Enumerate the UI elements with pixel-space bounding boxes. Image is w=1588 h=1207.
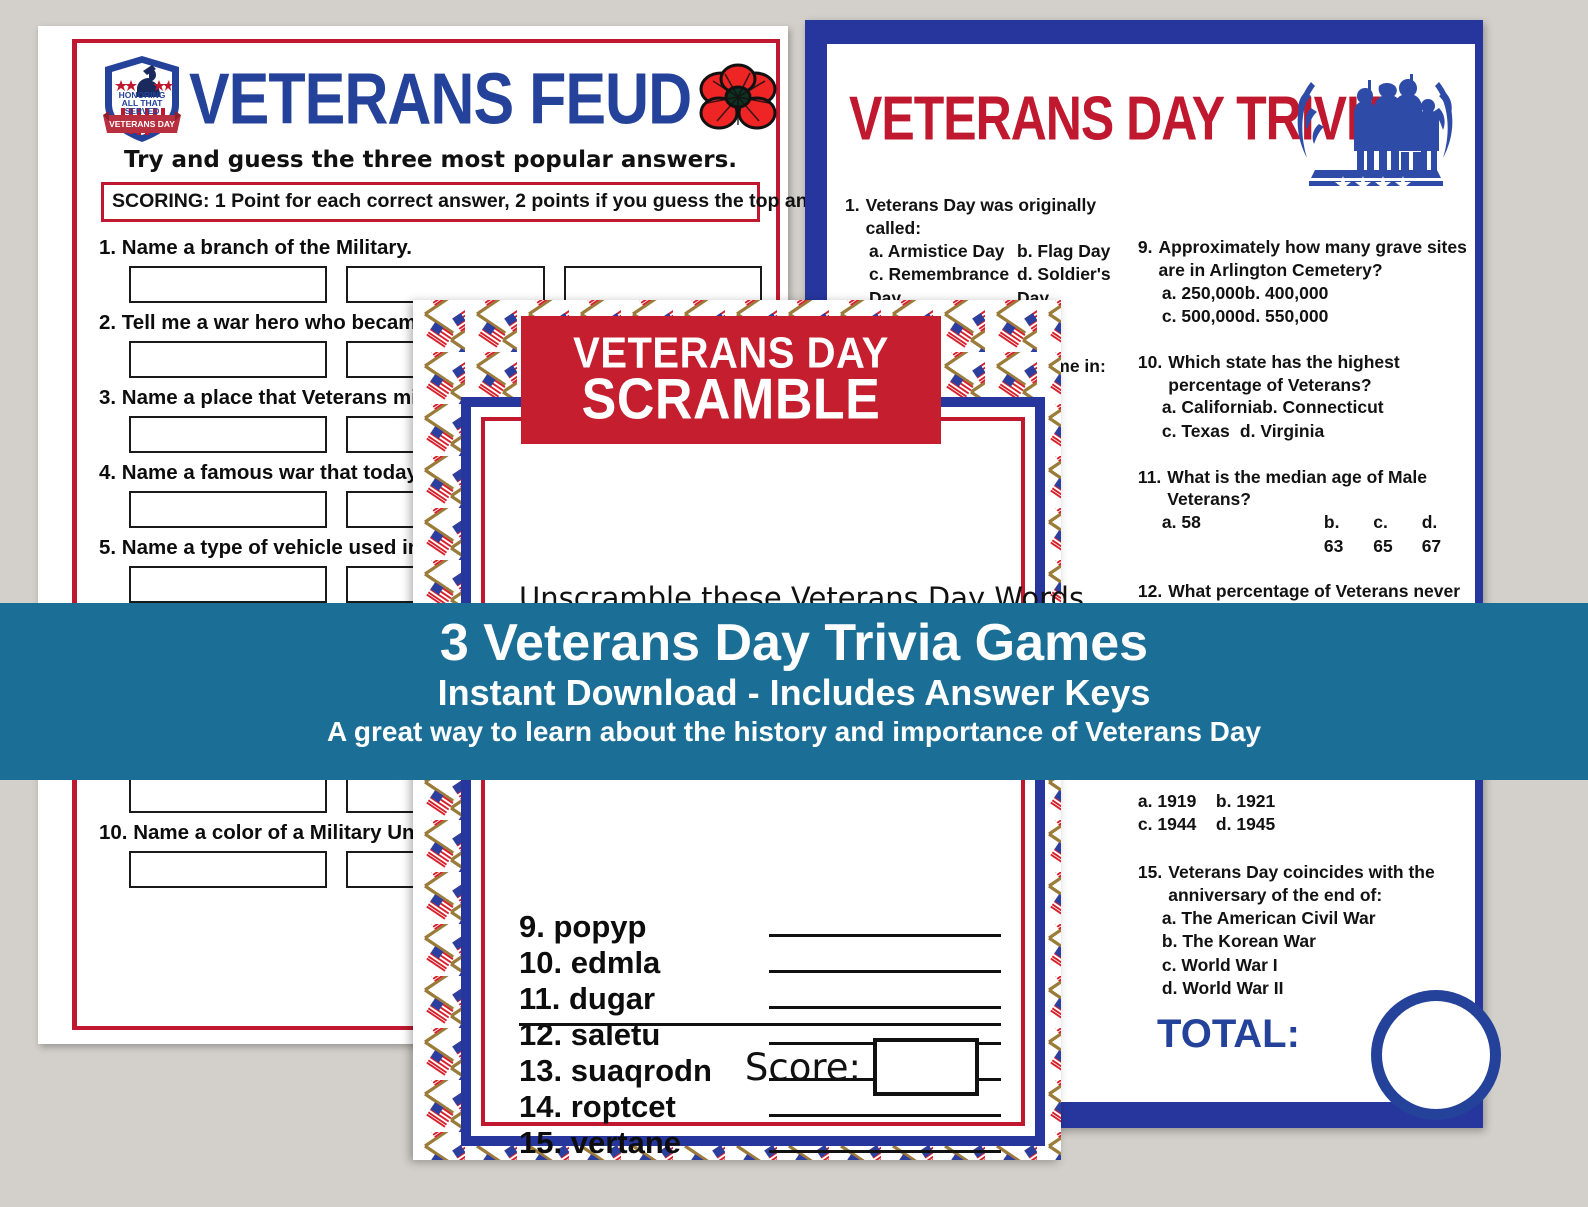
trivia-option[interactable]: b. Flag Day xyxy=(1017,240,1110,264)
scramble-answer-line[interactable] xyxy=(769,970,1001,973)
trivia-question-text: Approximately how many grave sites are i… xyxy=(1159,236,1471,282)
trivia-option[interactable]: a. 1919 xyxy=(1138,790,1216,814)
trivia-option[interactable]: a. Armistice Day xyxy=(869,240,1017,264)
trivia-question-number: 11. xyxy=(1138,466,1161,512)
scramble-item: 10. edmla xyxy=(519,945,1001,981)
trivia-question-text: What is the median age of Male Veterans? xyxy=(1167,466,1471,512)
feud-subtitle: Try and guess the three most popular ans… xyxy=(99,147,762,173)
scramble-word: 11. dugar xyxy=(519,981,769,1017)
trivia-option[interactable]: a. 250,000 xyxy=(1162,282,1245,306)
scramble-word: 9. popyp xyxy=(519,909,769,945)
trivia-option[interactable]: c. World War I xyxy=(1162,954,1471,978)
trivia-option[interactable]: c. Texas xyxy=(1162,420,1240,444)
product-mockup-canvas: HONORING ALL THAT SERVED VETERANS DAY VE… xyxy=(0,0,1588,1207)
trivia-question: 10. Which state has the highest percenta… xyxy=(1138,351,1471,444)
honoring-all-that-served-badge-icon: HONORING ALL THAT SERVED VETERANS DAY xyxy=(99,53,185,145)
score-label: Score: xyxy=(745,1046,861,1089)
feud-answer-box[interactable] xyxy=(129,851,327,888)
trivia-options: a. 58b. 63c. 65d. 67 xyxy=(1162,511,1471,558)
trivia-option[interactable]: d. 550,000 xyxy=(1245,305,1329,329)
soldiers-silhouette-emblem-icon xyxy=(1285,62,1465,197)
badge-ribbon-label: VETERANS DAY xyxy=(109,119,175,129)
scramble-answer-line[interactable] xyxy=(769,1006,1001,1009)
trivia-option[interactable]: c. 65 xyxy=(1373,511,1407,558)
trivia-option[interactable]: a. The American Civil War xyxy=(1162,907,1471,931)
scramble-word: 10. edmla xyxy=(519,945,769,981)
feud-answer-box[interactable] xyxy=(129,491,327,528)
trivia-question-text: Veterans Day coincides with the annivers… xyxy=(1168,861,1471,907)
feud-question-label: 1. Name a branch of the Military. xyxy=(99,236,762,260)
feud-header: HONORING ALL THAT SERVED VETERANS DAY VE… xyxy=(99,53,762,145)
scramble-banner-line2: SCRAMBLE xyxy=(521,371,941,429)
feud-answer-box[interactable] xyxy=(564,266,762,303)
trivia-question-number: 15. xyxy=(1138,861,1162,907)
trivia-question-number: 9. xyxy=(1138,236,1153,282)
trivia-question-text: Veterans Day was originally called: xyxy=(866,194,1116,240)
scramble-item: 11. dugar xyxy=(519,981,1001,1017)
trivia-option[interactable]: d. 67 xyxy=(1422,511,1457,558)
promo-tagline: A great way to learn about the history a… xyxy=(0,717,1588,748)
score-input-box[interactable] xyxy=(873,1038,979,1096)
feud-answer-box[interactable] xyxy=(129,566,327,603)
trivia-option[interactable]: b. 400,000 xyxy=(1245,282,1329,306)
trivia-question: 11. What is the median age of Male Veter… xyxy=(1138,466,1471,559)
feud-scoring-box: SCORING: 1 Point for each correct answer… xyxy=(101,182,760,222)
scramble-answer-line[interactable] xyxy=(769,1114,1001,1117)
feud-answer-boxes xyxy=(129,266,762,303)
scramble-item: 9. popyp xyxy=(519,909,1001,945)
trivia-question-number: 1. xyxy=(845,194,860,240)
trivia-question-text: Which state has the highest percentage o… xyxy=(1168,351,1471,397)
trivia-options: a. Californiab. Connecticut c. Texasd. V… xyxy=(1162,396,1471,443)
trivia-question: 9. Approximately how many grave sites ar… xyxy=(1138,236,1471,329)
scramble-item: 15. vertane xyxy=(519,1125,1001,1161)
trivia-options: a. 250,000b. 400,000 c. 500,000d. 550,00… xyxy=(1162,282,1471,329)
promo-subline: Instant Download - Includes Answer Keys xyxy=(0,673,1588,713)
feud-answer-box[interactable] xyxy=(129,266,327,303)
promo-banner: 3 Veterans Day Trivia Games Instant Down… xyxy=(0,603,1588,780)
trivia-option[interactable]: b. The Korean War xyxy=(1162,930,1471,954)
trivia-question: a. 1919b. 1921 c. 1944d. 1945 xyxy=(1138,790,1471,837)
feud-title: VETERANS FEUD xyxy=(189,63,691,135)
trivia-option[interactable]: b. Connecticut xyxy=(1262,396,1384,420)
feud-answer-box[interactable] xyxy=(346,266,544,303)
feud-question-row: 1. Name a branch of the Military. xyxy=(99,236,762,303)
total-score-circle[interactable] xyxy=(1371,990,1501,1120)
feud-answer-box[interactable] xyxy=(129,341,327,378)
trivia-options: a. 1919b. 1921 c. 1944d. 1945 xyxy=(1138,790,1471,837)
promo-headline: 3 Veterans Day Trivia Games xyxy=(0,615,1588,671)
scramble-title-banner: VETERANS DAY SCRAMBLE xyxy=(521,316,941,444)
trivia-option[interactable]: a. California xyxy=(1162,396,1262,420)
trivia-option[interactable]: d. 1945 xyxy=(1216,813,1275,837)
feud-answer-box[interactable] xyxy=(129,416,327,453)
feud-answer-box[interactable] xyxy=(129,776,327,813)
poppy-flower-icon xyxy=(695,59,781,139)
trivia-option[interactable]: d. Virginia xyxy=(1240,420,1324,444)
trivia-option[interactable]: b. 1921 xyxy=(1216,790,1275,814)
scramble-word: 15. vertane xyxy=(519,1125,769,1161)
trivia-question-number: 10. xyxy=(1138,351,1162,397)
badge-line3: SERVED xyxy=(125,106,160,116)
scramble-answer-line[interactable] xyxy=(769,1150,1001,1153)
scramble-answer-line[interactable] xyxy=(769,934,1001,937)
trivia-option[interactable]: b. 63 xyxy=(1324,511,1359,558)
trivia-option[interactable]: a. 58 xyxy=(1162,511,1310,558)
scramble-score-area: Score: xyxy=(519,1023,1001,1096)
total-label: TOTAL: xyxy=(1157,1012,1300,1057)
trivia-option[interactable]: c. 1944 xyxy=(1138,813,1216,837)
trivia-question: 1. Veterans Day was originally called: a… xyxy=(845,194,1116,310)
trivia-option[interactable]: c. 500,000 xyxy=(1162,305,1245,329)
